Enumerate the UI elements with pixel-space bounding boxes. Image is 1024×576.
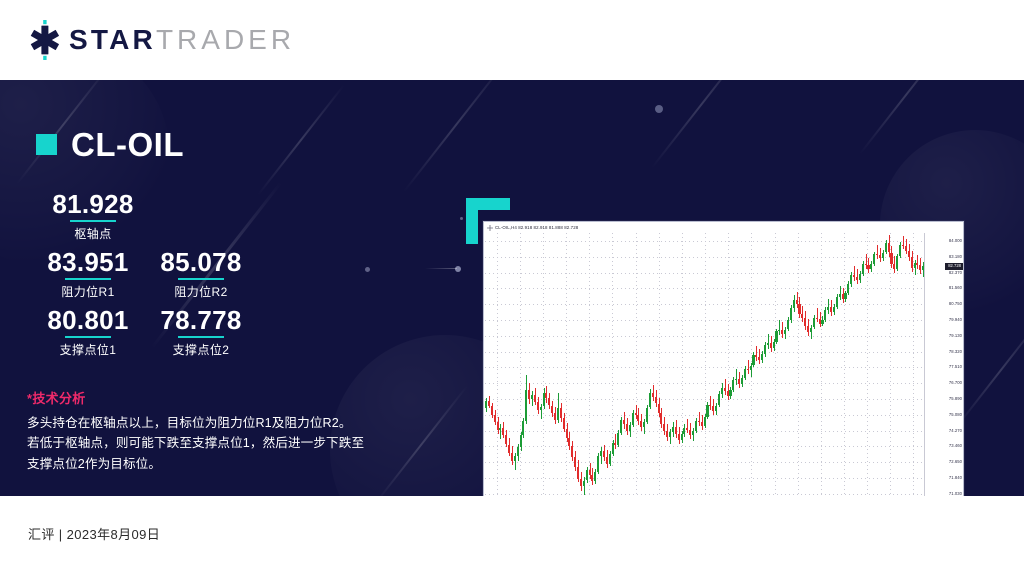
price-tick-label: 79.940 xyxy=(949,318,962,322)
candle-body xyxy=(701,422,703,426)
candle-wick xyxy=(748,360,749,375)
candle-body xyxy=(781,330,783,335)
candle-body xyxy=(672,427,674,432)
page-title: CL-OIL xyxy=(71,128,184,161)
candle-body xyxy=(804,318,806,326)
stat-support-1-label: 支撑点位1 xyxy=(28,341,148,358)
candle-wick xyxy=(636,405,637,420)
candle-body xyxy=(606,457,608,464)
candle-body xyxy=(911,257,913,268)
candle-body xyxy=(517,447,519,456)
price-axis[interactable]: 84.00083.18082.37081.56080.75079.94079.1… xyxy=(924,233,963,496)
decor-streak xyxy=(651,80,751,169)
candle-body xyxy=(603,451,605,457)
candle-body xyxy=(807,326,809,333)
price-tick-label: 81.560 xyxy=(949,286,962,290)
stat-underline xyxy=(178,336,224,338)
candle-body xyxy=(741,378,743,384)
candle-body xyxy=(784,330,786,335)
candle-body xyxy=(660,413,662,424)
candle-body xyxy=(764,345,766,354)
candle-body xyxy=(652,393,654,397)
candle-wick xyxy=(756,346,757,361)
candle-wick xyxy=(877,245,878,260)
candle-body xyxy=(678,434,680,440)
chart-plot-area xyxy=(485,233,925,496)
candle-wick xyxy=(903,236,904,250)
stat-underline xyxy=(65,336,111,338)
candle-body xyxy=(643,422,645,427)
page-footer: 汇评 | 2023年8月09日 xyxy=(0,496,1024,576)
candle-body xyxy=(522,421,524,435)
candle-body xyxy=(540,407,542,411)
decor-streak xyxy=(954,310,1024,429)
candle-body xyxy=(873,254,875,264)
candle-body xyxy=(787,320,789,330)
candle-body xyxy=(718,394,720,406)
candle-body xyxy=(528,390,530,399)
candle-body xyxy=(853,275,855,277)
candle-body xyxy=(683,428,685,434)
candle-body xyxy=(867,265,869,269)
candle-body xyxy=(856,277,858,280)
candle-body xyxy=(520,435,522,448)
candle-wick xyxy=(532,391,533,407)
candle-body xyxy=(689,430,691,435)
stat-pivot-value: 81.928 xyxy=(33,190,153,219)
candle-body xyxy=(899,245,901,257)
stat-pivot-label: 枢轴点 xyxy=(33,225,153,242)
candle-body xyxy=(649,393,651,408)
candle-body xyxy=(847,284,849,294)
stat-support-1-value: 80.801 xyxy=(28,306,148,335)
main-panel: CL-OIL 81.928 枢轴点 83.951 阻力位R1 85.078 阻力… xyxy=(0,80,1024,496)
chart-caption: CL-OIL,H4 82.918 82.918 81.888 82.728 xyxy=(495,225,578,230)
decor-shooting-star xyxy=(455,266,461,272)
candle-body xyxy=(827,307,829,310)
candle-body xyxy=(594,472,596,482)
logo-text-trader: TRADER xyxy=(156,26,295,54)
candle-body xyxy=(816,318,818,319)
candle-body xyxy=(735,379,737,380)
crosshair-cursor-icon xyxy=(487,225,493,231)
candle-body xyxy=(669,432,671,437)
candle-body xyxy=(531,395,533,399)
candle-body xyxy=(796,300,798,304)
brand-logo: STAR TRADER xyxy=(28,20,295,60)
decor-dot xyxy=(655,105,663,113)
candle-body xyxy=(508,445,510,454)
candle-body xyxy=(758,357,760,360)
candle-body xyxy=(563,418,565,429)
asterisk-star-icon xyxy=(28,20,62,60)
candlestick-series xyxy=(485,233,925,496)
price-tick-label: 82.370 xyxy=(949,271,962,275)
candle-body xyxy=(833,307,835,312)
candle-wick xyxy=(866,254,867,269)
candle-body xyxy=(709,405,711,406)
candle-body xyxy=(675,427,677,434)
candle-body xyxy=(902,245,904,246)
candle-body xyxy=(666,431,668,437)
candle-body xyxy=(511,453,513,461)
price-tick-label: 84.000 xyxy=(949,239,962,243)
candle-wick xyxy=(768,334,769,349)
candle-body xyxy=(732,380,734,390)
candle-body xyxy=(905,246,907,251)
candle-body xyxy=(744,369,746,379)
stat-resistance-1: 83.951 阻力位R1 xyxy=(28,248,148,300)
candle-body xyxy=(537,402,539,411)
candle-body xyxy=(715,406,717,412)
candle-body xyxy=(491,406,493,415)
candle-body xyxy=(916,263,918,265)
instrument-info: CL-OIL 81.928 枢轴点 83.951 阻力位R1 85.078 阻力… xyxy=(0,80,430,496)
candle-body xyxy=(824,310,826,320)
candle-body xyxy=(488,401,490,406)
candle-wick xyxy=(736,369,737,385)
stat-resistance-2-label: 阻力位R2 xyxy=(141,283,261,300)
candle-wick xyxy=(699,412,700,426)
candle-body xyxy=(706,405,708,418)
candle-wick xyxy=(817,308,818,322)
candle-body xyxy=(724,388,726,391)
candle-body xyxy=(612,443,614,455)
candle-body xyxy=(914,263,916,268)
candle-body xyxy=(836,297,838,307)
candle-body xyxy=(819,319,821,324)
candle-body xyxy=(597,456,599,472)
candle-body xyxy=(695,421,697,431)
candle-wick xyxy=(500,424,501,439)
candle-body xyxy=(821,320,823,324)
current-price-badge: 82.728 xyxy=(945,263,963,270)
stat-support-2-label: 支撑点位2 xyxy=(141,341,261,358)
candle-body xyxy=(571,446,573,457)
candle-body xyxy=(681,434,683,440)
candle-body xyxy=(494,415,496,422)
candle-body xyxy=(692,431,694,435)
candle-body xyxy=(623,420,625,424)
candle-body xyxy=(609,454,611,464)
candle-wick xyxy=(840,286,841,301)
candle-body xyxy=(640,421,642,427)
candle-body xyxy=(545,393,547,398)
stat-underline xyxy=(70,220,116,222)
slide-root: STAR TRADER CL-OIL 81.928 xyxy=(0,0,1024,576)
price-tick-label: 75.890 xyxy=(949,397,962,401)
candle-wick xyxy=(917,255,918,269)
candle-body xyxy=(637,415,639,421)
candle-body xyxy=(890,253,892,265)
stat-resistance-2: 85.078 阻力位R2 xyxy=(141,248,261,300)
candle-wick xyxy=(687,419,688,433)
candle-body xyxy=(554,413,556,420)
candle-body xyxy=(893,264,895,269)
price-chart[interactable]: CL-OIL,H4 82.918 82.918 81.888 82.728 84… xyxy=(483,221,964,496)
price-tick-label: 77.510 xyxy=(949,365,962,369)
candle-body xyxy=(798,304,800,314)
candle-body xyxy=(773,342,775,348)
candle-body xyxy=(793,300,795,308)
candle-body xyxy=(583,481,585,487)
candle-body xyxy=(908,251,910,258)
candle-body xyxy=(629,425,631,431)
candle-body xyxy=(862,264,864,274)
analysis-body: 多头持仓在枢轴点以上，目标位为阻力位R1及阻力位R2。 若低于枢轴点，则可能下跌… xyxy=(27,413,399,474)
title-marker-square xyxy=(36,134,57,155)
candle-body xyxy=(801,314,803,318)
price-tick-label: 78.320 xyxy=(949,350,962,354)
candle-body xyxy=(810,328,812,333)
candle-body xyxy=(885,243,887,253)
candle-body xyxy=(505,435,507,445)
candle-body xyxy=(566,429,568,438)
candle-body xyxy=(865,264,867,265)
price-tick-label: 72.650 xyxy=(949,460,962,464)
candle-body xyxy=(635,413,637,415)
candle-body xyxy=(543,393,545,407)
candle-body xyxy=(574,457,576,467)
chart-toolbar: CL-OIL,H4 82.918 82.918 81.888 82.728 xyxy=(484,222,963,233)
candle-body xyxy=(850,275,852,284)
candle-body xyxy=(712,406,714,412)
analysis-line-3: 支撑点位2作为目标位。 xyxy=(27,454,399,474)
candle-body xyxy=(577,467,579,479)
candle-body xyxy=(761,354,763,360)
candle-body xyxy=(870,264,872,269)
candle-body xyxy=(813,318,815,328)
candle-body xyxy=(859,274,861,280)
candle-body xyxy=(767,343,769,345)
candle-body xyxy=(882,253,884,259)
candle-body xyxy=(557,408,559,420)
candle-body xyxy=(775,331,777,342)
candle-body xyxy=(729,390,731,396)
candle-wick xyxy=(725,379,726,395)
price-tick-label: 80.750 xyxy=(949,302,962,306)
candle-body xyxy=(750,366,752,371)
candle-body xyxy=(548,398,550,406)
candle-body xyxy=(830,307,832,312)
stat-underline xyxy=(178,278,224,280)
candle-body xyxy=(560,408,562,418)
analysis-line-2: 若低于枢轴点，则可能下跌至支撑点位1，然后进一步下跌至 xyxy=(27,433,399,453)
price-tick-label: 83.180 xyxy=(949,255,962,259)
candle-body xyxy=(755,355,757,357)
candle-body xyxy=(876,254,878,255)
stat-resistance-1-label: 阻力位R1 xyxy=(28,283,148,300)
candle-body xyxy=(844,293,846,299)
candle-body xyxy=(663,424,665,431)
candle-wick xyxy=(779,320,780,336)
decor-streak xyxy=(859,80,953,155)
candle-body xyxy=(620,420,622,433)
price-tick-label: 71.840 xyxy=(949,476,962,480)
candle-body xyxy=(879,255,881,258)
candle-body xyxy=(655,397,657,404)
analysis-heading: *技术分析 xyxy=(27,388,399,407)
candle-body xyxy=(778,330,780,332)
candle-body xyxy=(888,243,890,253)
candle-body xyxy=(626,424,628,431)
candle-body xyxy=(704,417,706,426)
candle-body xyxy=(790,308,792,320)
candle-body xyxy=(727,391,729,396)
candle-wick xyxy=(710,396,711,411)
technical-analysis: *技术分析 多头持仓在枢轴点以上，目标位为阻力位R1及阻力位R2。 若低于枢轴点… xyxy=(27,388,399,474)
candle-body xyxy=(568,438,570,447)
price-tick-label: 76.700 xyxy=(949,381,962,385)
analysis-line-1: 多头持仓在枢轴点以上，目标位为阻力位R1及阻力位R2。 xyxy=(27,413,399,433)
candle-body xyxy=(614,443,616,446)
candle-body xyxy=(919,265,921,270)
candle-body xyxy=(499,428,501,430)
candle-body xyxy=(721,388,723,394)
candle-body xyxy=(842,294,844,299)
candle-body xyxy=(497,422,499,430)
stat-support-2: 78.778 支撑点位2 xyxy=(141,306,261,358)
candle-body xyxy=(747,369,749,371)
candle-body xyxy=(839,294,841,297)
candle-body xyxy=(580,479,582,487)
candle-body xyxy=(770,343,772,348)
candle-body xyxy=(632,413,634,425)
stat-resistance-1-value: 83.951 xyxy=(28,248,148,277)
candle-body xyxy=(617,433,619,446)
stat-support-1: 80.801 支撑点位1 xyxy=(28,306,148,358)
candle-body xyxy=(525,390,527,421)
price-tick-label: 74.270 xyxy=(949,429,962,433)
stat-resistance-2-value: 85.078 xyxy=(141,248,261,277)
price-tick-label: 79.130 xyxy=(949,334,962,338)
candle-body xyxy=(646,408,648,423)
candle-body xyxy=(752,355,754,366)
candle-body xyxy=(600,451,602,456)
instrument-title-row: CL-OIL xyxy=(36,128,184,161)
logo-text-star: STAR xyxy=(69,26,156,54)
price-tick-label: 73.460 xyxy=(949,444,962,448)
candle-body xyxy=(502,428,504,435)
candle-body xyxy=(514,456,516,461)
candle-body xyxy=(686,428,688,430)
candle-body xyxy=(591,475,593,482)
candle-wick xyxy=(854,266,855,281)
candle-body xyxy=(485,401,487,408)
decor-dot xyxy=(460,217,463,220)
candle-body xyxy=(586,470,588,481)
stat-pivot: 81.928 枢轴点 xyxy=(33,190,153,242)
candle-body xyxy=(896,256,898,269)
candle-body xyxy=(534,395,536,402)
candle-body xyxy=(738,379,740,384)
candle-body xyxy=(551,406,553,414)
stat-support-2-value: 78.778 xyxy=(141,306,261,335)
candle-body xyxy=(698,421,700,422)
stat-underline xyxy=(65,278,111,280)
candle-body xyxy=(658,404,660,414)
price-tick-label: 75.080 xyxy=(949,413,962,417)
footer-caption: 汇评 | 2023年8月09日 xyxy=(28,524,160,543)
page-header: STAR TRADER xyxy=(0,0,1024,80)
candle-body xyxy=(589,470,591,475)
